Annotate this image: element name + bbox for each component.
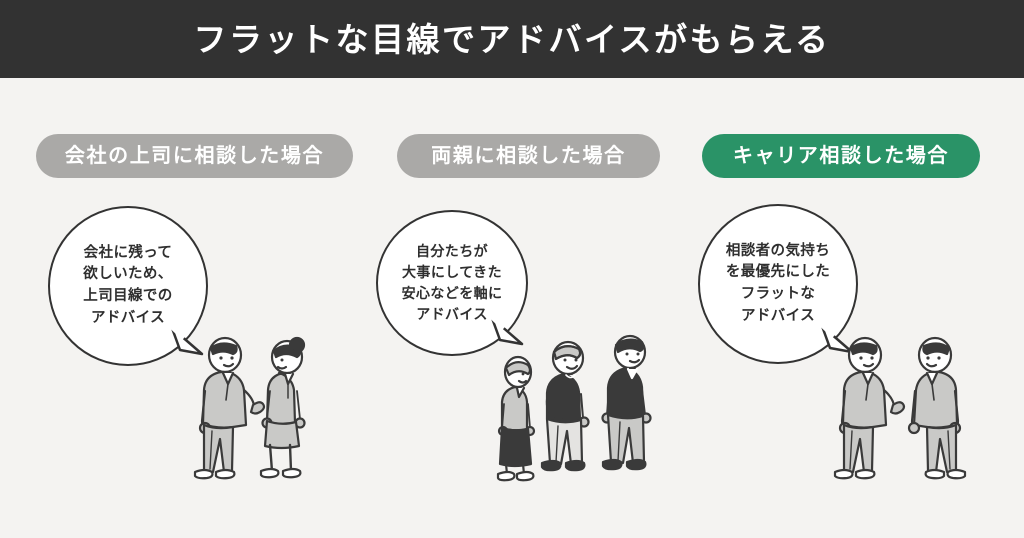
pill-label-boss: 会社の上司に相談した場合 xyxy=(36,134,353,178)
pill-label-career-text: キャリア相談した場合 xyxy=(733,146,949,166)
pill-label-parents-text: 両親に相談した場合 xyxy=(431,146,625,166)
comparison-column-boss: 会社の上司に相談した場合 会社に残って 欲しいため、 上司目線での アドバイス xyxy=(20,78,370,538)
figure-suited-woman xyxy=(261,338,305,477)
comparison-column-career: キャリア相談した場合 相談者の気持ち を最優先にした フラットな アドバイス xyxy=(680,78,1010,538)
speech-bubble-parents-text: 自分たちが 大事にしてきた 安心などを軸に アドバイス xyxy=(402,241,503,325)
pill-label-parents: 両親に相談した場合 xyxy=(397,134,660,178)
figure-older-man xyxy=(542,342,589,470)
illustration-group-boss xyxy=(190,335,330,490)
pill-label-boss-text: 会社の上司に相談した場合 xyxy=(65,146,324,166)
header-bar: フラットな目線でアドバイスがもらえる xyxy=(0,0,1024,78)
comparison-columns: 会社の上司に相談した場合 会社に残って 欲しいため、 上司目線での アドバイス xyxy=(0,78,1024,538)
speech-bubble-boss: 会社に残って 欲しいため、 上司目線での アドバイス xyxy=(48,206,208,366)
page-title: フラットな目線でアドバイスがもらえる xyxy=(193,23,830,56)
figure-young-man xyxy=(603,336,651,469)
figure-client-man xyxy=(909,338,965,478)
speech-bubble-boss-text: 会社に残って 欲しいため、 上司目線での アドバイス xyxy=(83,243,172,330)
pill-label-career: キャリア相談した場合 xyxy=(702,134,980,178)
comparison-column-parents: 両親に相談した場合 自分たちが 大事にしてきた 安心などを軸に アドバイス xyxy=(360,78,690,538)
figure-older-woman xyxy=(498,357,534,480)
illustration-group-career xyxy=(830,335,970,490)
speech-bubble-career-text: 相談者の気持ち を最優先にした フラットな アドバイス xyxy=(726,241,830,328)
speech-bubble-boss-wrap: 会社に残って 欲しいため、 上司目線での アドバイス xyxy=(48,206,208,366)
illustration-group-parents xyxy=(490,330,670,490)
figure-suited-man xyxy=(195,338,264,478)
figure-advisor-man xyxy=(835,338,904,478)
